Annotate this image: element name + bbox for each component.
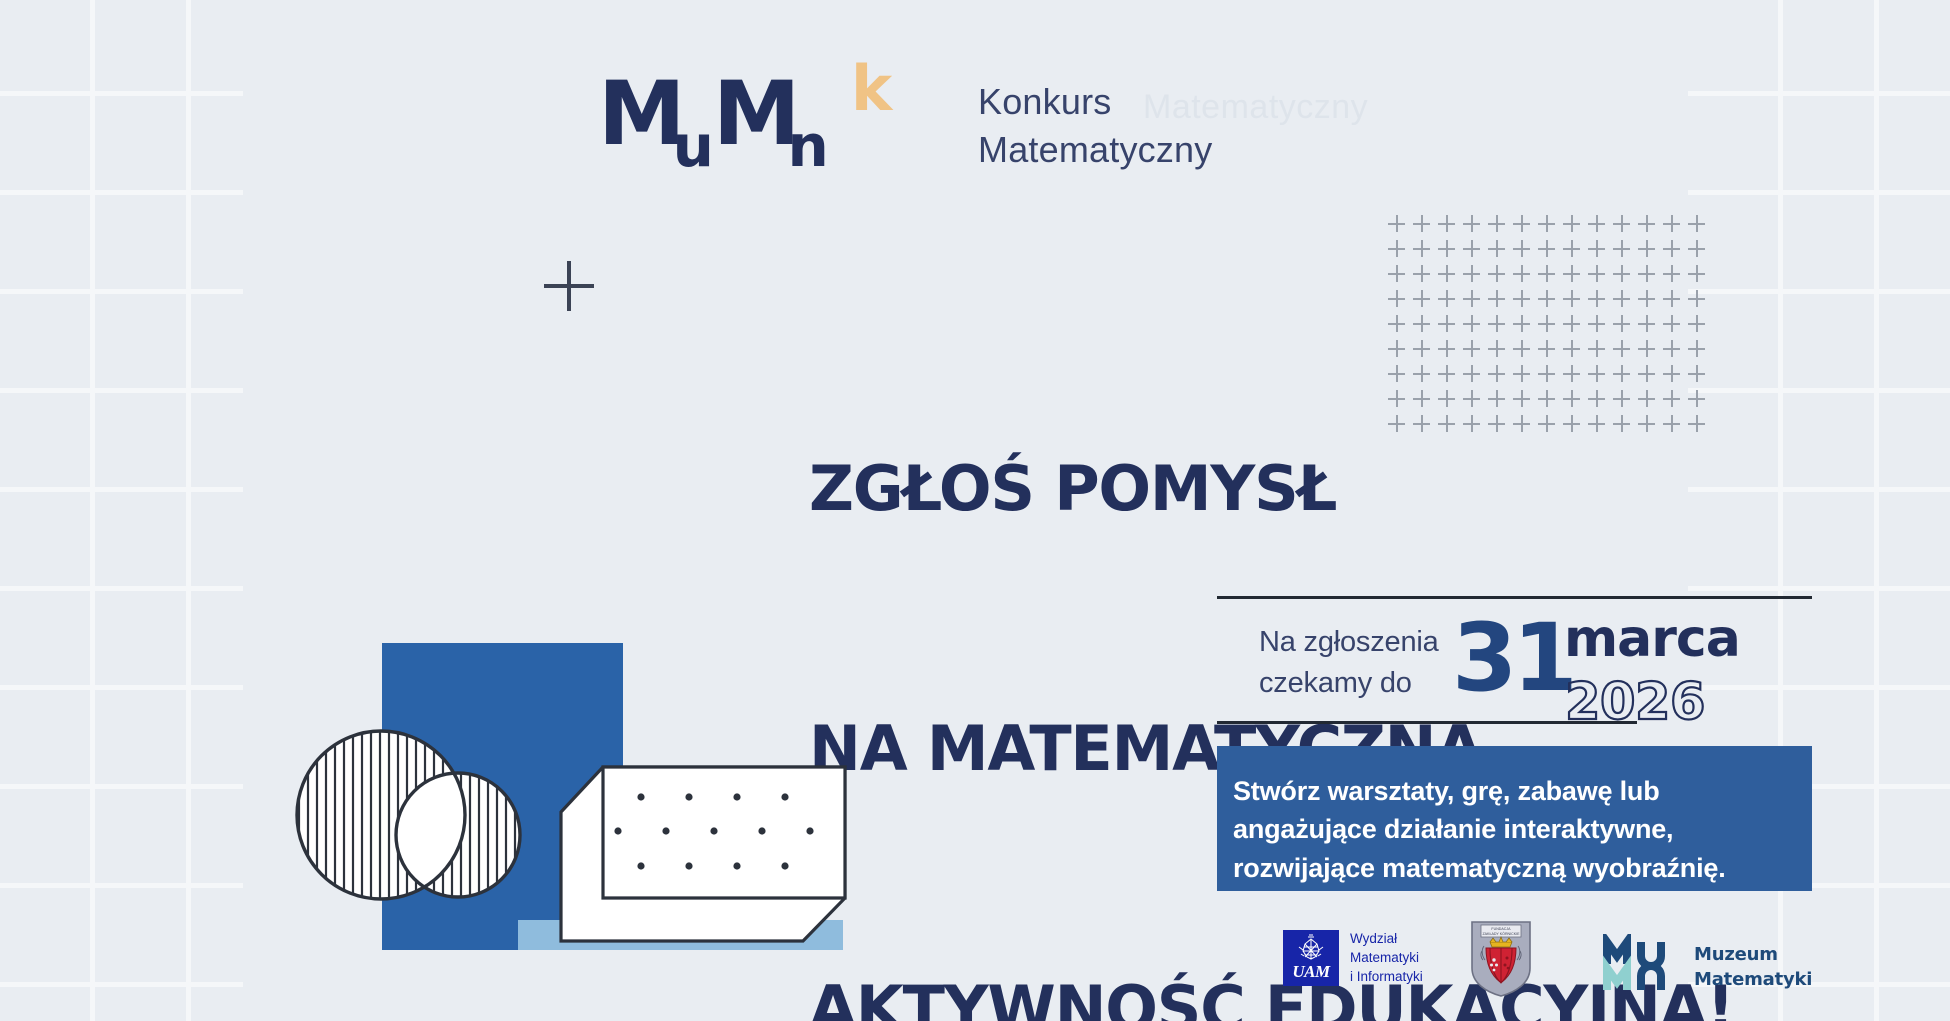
callout-text: Stwórz warsztaty, grę, zabawę lub angażu… bbox=[1233, 772, 1793, 887]
prism-shape bbox=[561, 767, 845, 941]
deadline-label-line2: czekamy do bbox=[1259, 663, 1439, 704]
callout-box: Stwórz warsztaty, grę, zabawę lub angażu… bbox=[1217, 746, 1812, 891]
logo-muzeum-matematyki: Muzeum Matematyki bbox=[1601, 934, 1812, 1001]
uam-crest-text: UAM bbox=[1283, 962, 1339, 982]
background-grid-left bbox=[0, 0, 243, 1021]
deadline-day: 31 bbox=[1452, 612, 1573, 706]
deadline-label-line1: Na zgłoszenia bbox=[1259, 622, 1439, 663]
plus-icon bbox=[1688, 215, 1705, 232]
museum-label: Muzeum Matematyki bbox=[1694, 943, 1812, 992]
mumn-mark-icon bbox=[1601, 934, 1677, 1001]
shield-title-line2: ZAKŁADY KÓRNICKIE bbox=[1482, 931, 1520, 936]
footer-logos: UAM Wydział Matematyki i Informatyki FUN… bbox=[1283, 920, 1843, 1000]
deadline-year: 2026 bbox=[1565, 677, 1705, 728]
poster-root: MuMn k Matematyczny Konkurs Matematyczny… bbox=[0, 0, 1950, 1021]
logo-uam: UAM Wydział Matematyki i Informatyki bbox=[1283, 930, 1423, 987]
poster-stage: MuMn k Matematyczny Konkurs Matematyczny… bbox=[243, 0, 1688, 1021]
deadline-label: Na zgłoszenia czekamy do bbox=[1259, 622, 1439, 704]
uam-label: Wydział Matematyki i Informatyki bbox=[1350, 930, 1423, 987]
deadline-month: marca bbox=[1564, 613, 1740, 665]
uam-crest-icon: UAM bbox=[1283, 930, 1339, 986]
logo-fundacja-zaklady-kornickie: FUNDACJA ZAKŁADY KÓRNICKIE bbox=[1469, 920, 1533, 998]
shield-title-line1: FUNDACJA bbox=[1491, 927, 1511, 931]
deadline-rule-top bbox=[1217, 596, 1812, 599]
plus-icon bbox=[1688, 240, 1705, 257]
